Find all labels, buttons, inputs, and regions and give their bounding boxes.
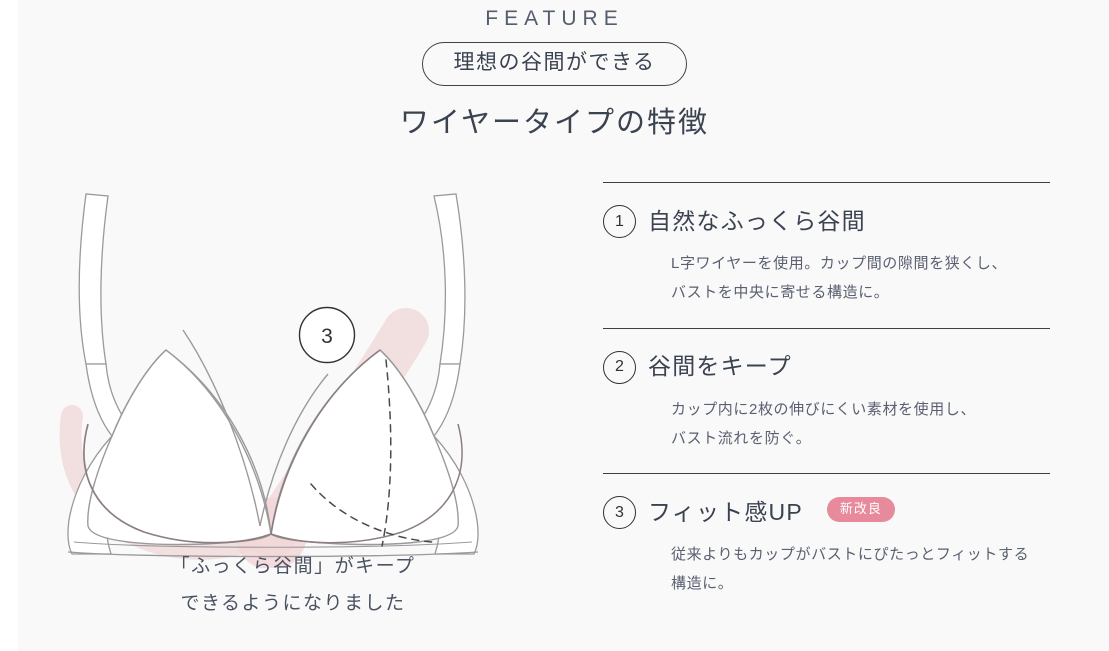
feature-item-3: 3 フィット感UP 新改良 従来よりもカップがバストにぴたっとフィットする 構造… [603, 474, 1050, 619]
feature-2-body: カップ内に2枚の伸びにくい素材を使用し、 バスト流れを防ぐ。 [671, 395, 1050, 454]
strap-right [417, 194, 465, 436]
feature-1-head: 1 自然なふっくら谷間 [603, 205, 1050, 238]
header: FEATURE 理想の谷間ができる ワイヤータイプの特徴 [0, 0, 1109, 142]
feature-1-title: 自然なふっくら谷間 [648, 208, 866, 236]
feature-2-body-line-1: カップ内に2枚の伸びにくい素材を使用し、 [671, 395, 1050, 424]
feature-3-title: フィット感UP [648, 499, 803, 527]
feature-3-number-badge: 3 [603, 496, 636, 529]
feature-item-2: 2 谷間をキープ カップ内に2枚の伸びにくい素材を使用し、 バスト流れを防ぐ。 [603, 329, 1050, 474]
page-title: ワイヤータイプの特徴 [0, 105, 1109, 141]
feature-section-page: FEATURE 理想の谷間ができる ワイヤータイプの特徴 [0, 0, 1109, 651]
ideal-cleavage-pill: 理想の谷間ができる [422, 42, 686, 86]
caption-line-1: 「ふっくら谷間」がキープ [28, 548, 558, 585]
feature-1-body-line-2: バストを中央に寄せる構造に。 [671, 278, 1050, 307]
feature-3-body: 従来よりもカップがバストにぴたっとフィットする 構造に。 [671, 540, 1050, 599]
feature-3-head: 3 フィット感UP 新改良 [603, 496, 1050, 529]
feature-eyebrow-label: FEATURE [0, 6, 1109, 31]
feature-3-body-line-1: 従来よりもカップがバストにぴたっとフィットする [671, 540, 1050, 569]
feature-2-body-line-2: バスト流れを防ぐ。 [671, 424, 1050, 453]
wire-bra-diagram: 1 2 3 [28, 168, 558, 568]
strap-left [79, 194, 129, 436]
feature-list: 1 自然なふっくら谷間 L字ワイヤーを使用。カップ間の隙間を狭くし、 バストを中… [603, 182, 1050, 619]
feature-2-number-badge: 2 [603, 351, 636, 384]
new-improvement-badge: 新改良 [827, 497, 895, 522]
feature-1-number-badge: 1 [603, 205, 636, 238]
feature-1-body: L字ワイヤーを使用。カップ間の隙間を狭くし、 バストを中央に寄せる構造に。 [671, 249, 1050, 308]
feature-2-head: 2 谷間をキープ [603, 351, 1050, 384]
feature-3-body-line-2: 構造に。 [671, 569, 1050, 598]
feature-2-title: 谷間をキープ [648, 353, 792, 381]
feature-item-1: 1 自然なふっくら谷間 L字ワイヤーを使用。カップ間の隙間を狭くし、 バストを中… [603, 183, 1050, 328]
callout-3: 3 [300, 308, 355, 363]
feature-1-body-line-1: L字ワイヤーを使用。カップ間の隙間を狭くし、 [671, 249, 1050, 278]
callout-3-number: 3 [321, 325, 333, 348]
caption-line-2: できるようになりました [28, 585, 558, 622]
illustration-caption: 「ふっくら谷間」がキープ できるようになりました [28, 548, 558, 622]
